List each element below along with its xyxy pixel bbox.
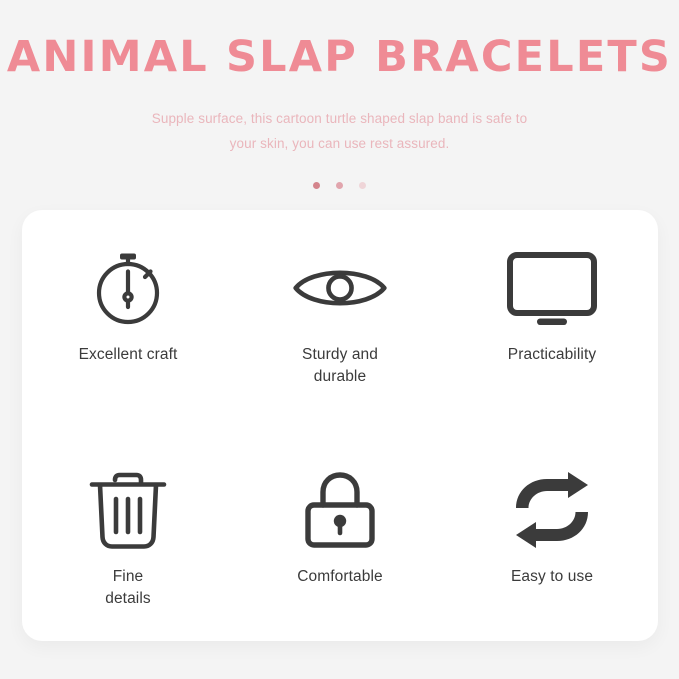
feature-card: Excellent craft Sturdy and durable — [22, 210, 658, 641]
subtitle-line-2: your skin, you can use rest assured. — [0, 131, 679, 156]
feature-item-comfortable: Comfortable — [234, 426, 446, 642]
feature-label: Comfortable — [297, 566, 383, 588]
subtitle-line-1: Supple surface, this cartoon turtle shap… — [0, 106, 679, 131]
eye-icon — [292, 246, 388, 330]
page-subtitle: Supple surface, this cartoon turtle shap… — [0, 106, 679, 156]
feature-label: Practicability — [508, 344, 596, 366]
carousel-dot-2[interactable] — [336, 182, 343, 189]
feature-label: Sturdy and durable — [302, 344, 378, 388]
feature-label: Fine details — [105, 566, 151, 610]
feature-item-sturdy-durable: Sturdy and durable — [234, 210, 446, 426]
feature-label: Excellent craft — [79, 344, 178, 366]
feature-grid: Excellent craft Sturdy and durable — [22, 210, 658, 641]
carousel-indicator[interactable] — [0, 182, 679, 189]
feature-item-excellent-craft: Excellent craft — [22, 210, 234, 426]
stopwatch-icon — [80, 246, 176, 330]
refresh-arrows-icon — [504, 468, 600, 552]
lock-icon — [292, 468, 388, 552]
carousel-dot-3[interactable] — [359, 182, 366, 189]
feature-item-easy-to-use: Easy to use — [446, 426, 658, 642]
product-feature-page: ANIMAL SLAP BRACELETS Supple surface, th… — [0, 0, 679, 679]
feature-item-practicability: Practicability — [446, 210, 658, 426]
page-title: ANIMAL SLAP BRACELETS — [0, 36, 679, 79]
feature-item-fine-details: Fine details — [22, 426, 234, 642]
page-header: ANIMAL SLAP BRACELETS Supple surface, th… — [0, 0, 679, 210]
carousel-dot-1[interactable] — [313, 182, 320, 189]
trash-icon — [80, 468, 176, 552]
monitor-icon — [504, 246, 600, 330]
feature-label: Easy to use — [511, 566, 593, 588]
